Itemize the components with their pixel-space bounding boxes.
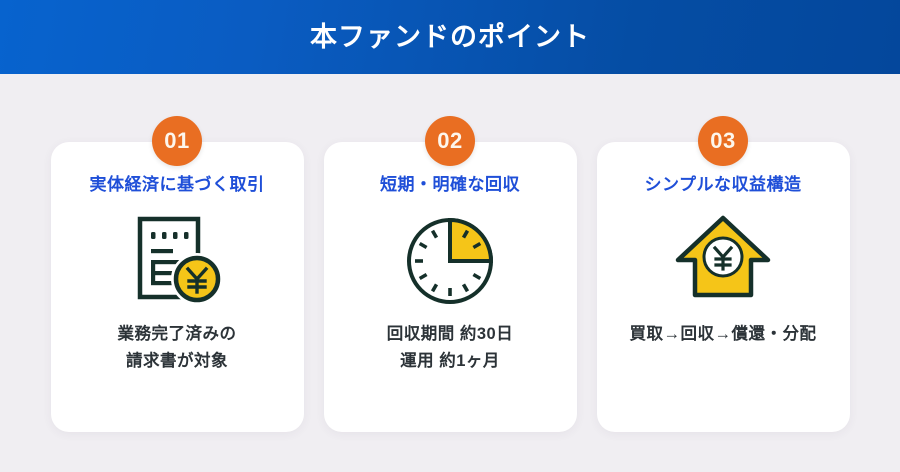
page-header: 本ファンドのポイント <box>0 0 900 74</box>
point-text-01-line1: 業務完了済みの <box>118 325 237 343</box>
point-card-01[interactable]: 01 実体経済に基づく取引 <box>51 142 304 432</box>
point-title-02: 短期・明確な回収 <box>380 176 520 193</box>
point-badge-02: 02 <box>425 116 475 166</box>
point-badge-01: 01 <box>152 116 202 166</box>
point-text-01: 業務完了済みの 請求書が対象 <box>118 321 237 375</box>
point-text-01-line2: 請求書が対象 <box>118 348 237 375</box>
point-text-02-line1: 回収期間 約30日 <box>387 325 513 343</box>
clock-quarter-icon <box>402 211 498 311</box>
house-yen-icon <box>673 209 773 305</box>
point-card-03[interactable]: 03 シンプルな収益構造 買取→回収→償還・分配 <box>597 142 850 432</box>
page-title: 本ファンドのポイント <box>310 24 590 51</box>
point-text-02: 回収期間 約30日 運用 約1ヶ月 <box>387 321 513 375</box>
point-card-02[interactable]: 02 短期・明確な回収 <box>324 142 577 432</box>
point-text-02-line2: 運用 約1ヶ月 <box>387 348 513 375</box>
point-text-03-line1: 買取→回収→償還・分配 <box>630 325 817 343</box>
points-card-row: 01 実体経済に基づく取引 <box>0 74 900 472</box>
point-title-01: 実体経済に基づく取引 <box>90 176 265 193</box>
point-badge-03: 03 <box>698 116 748 166</box>
point-title-03: シンプルな収益構造 <box>645 176 802 193</box>
point-text-03: 買取→回収→償還・分配 <box>630 321 817 348</box>
invoice-yen-icon <box>125 211 229 311</box>
